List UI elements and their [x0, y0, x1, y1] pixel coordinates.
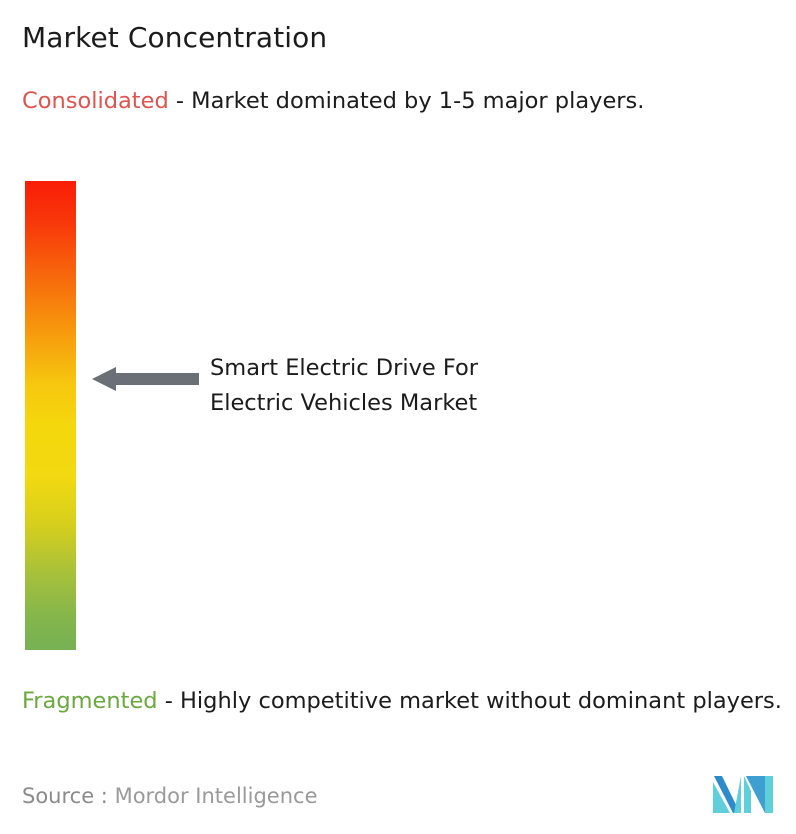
legend-consolidated: Consolidated - Market dominated by 1-5 m…: [22, 86, 768, 117]
market-concentration-figure: Market Concentration Consolidated - Mark…: [0, 0, 796, 834]
concentration-scale-bar: [25, 181, 76, 650]
marker-label: Smart Electric Drive For Electric Vehicl…: [210, 351, 478, 421]
marker-arrow-icon: [92, 366, 199, 392]
page-title: Market Concentration: [22, 20, 327, 56]
mordor-intelligence-logo-icon: [713, 769, 773, 813]
legend-consolidated-keyword: Consolidated: [22, 88, 169, 114]
source-label: Source :: [22, 784, 108, 808]
source-value: Mordor Intelligence: [115, 784, 318, 808]
legend-consolidated-description: - Market dominated by 1-5 major players.: [169, 88, 645, 114]
legend-fragmented-description: - Highly competitive market without domi…: [158, 688, 782, 714]
legend-fragmented: Fragmented - Highly competitive market w…: [22, 686, 790, 717]
legend-fragmented-keyword: Fragmented: [22, 688, 158, 714]
source-line: Source : Mordor Intelligence: [22, 782, 317, 810]
